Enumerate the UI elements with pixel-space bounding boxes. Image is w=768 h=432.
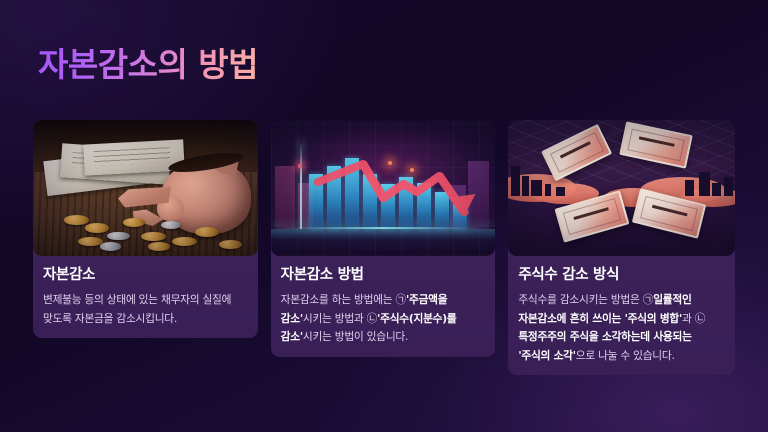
card-capital-reduction[interactable]: 자본감소 변제불능 등의 상태에 있는 채무자의 실질에 맞도록 자본금을 감소… (33, 120, 258, 338)
stock-certificates-image (508, 120, 735, 256)
card-body: 변제불능 등의 상태에 있는 채무자의 실질에 맞도록 자본금을 감소시킵니다. (43, 291, 248, 328)
card-title: 주식수 감소 방식 (518, 267, 725, 284)
broken-piggy-bank-image (33, 120, 258, 256)
card-share-count-reduction[interactable]: 주식수 감소 방식 주식수를 감소시키는 방법은 ㉠일률적인 자본감소에 흔히 … (508, 120, 735, 375)
card-body: 자본감소를 하는 방법에는 ㉠'주금액을 감소'시키는 방법과 ㉡'주식수(지분… (281, 291, 486, 346)
card-reduction-method[interactable]: 자본감소 방법 자본감소를 하는 방법에는 ㉠'주금액을 감소'시키는 방법과 … (271, 120, 496, 357)
card-body: 주식수를 감소시키는 방법은 ㉠일률적인 자본감소에 흔히 쓰이는 '주식의 병… (518, 291, 725, 365)
declining-arrow-icon (271, 120, 496, 256)
card-title: 자본감소 (43, 267, 248, 284)
card-title: 자본감소 방법 (281, 267, 486, 284)
declining-chart-image (271, 120, 496, 256)
card-list: 자본감소 변제불능 등의 상태에 있는 채무자의 실질에 맞도록 자본금을 감소… (33, 120, 735, 375)
page-title: 자본감소의 방법 (38, 46, 258, 84)
